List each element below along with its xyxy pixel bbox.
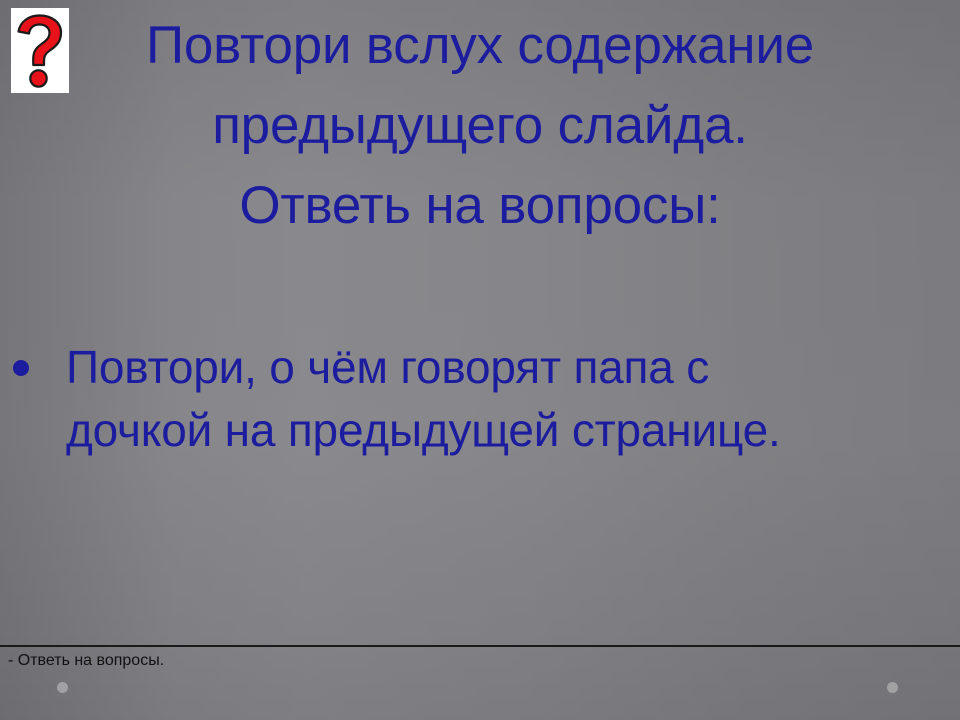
footer-divider xyxy=(0,645,960,647)
slide-canvas: Повтори вслух содержание предыдущего сла… xyxy=(0,0,960,720)
bullet-text: Повтори, о чём говорят папа с дочкой на … xyxy=(66,336,950,462)
title-line-3: Ответь на вопросы: xyxy=(0,166,960,246)
decor-dot-right xyxy=(887,682,898,693)
title-line-2: предыдущего слайда. xyxy=(0,86,960,166)
bullet-text-line-1: Повтори, о чём говорят папа с xyxy=(66,336,950,399)
bullet-marker-icon xyxy=(13,360,29,376)
bullet-text-line-2: дочкой на предыдущей странице. xyxy=(66,399,950,462)
title-line-1: Повтори вслух содержание xyxy=(0,6,960,86)
footer-note: - Ответь на вопросы. xyxy=(8,651,164,671)
slide-body: Повтори, о чём говорят папа с дочкой на … xyxy=(0,336,960,462)
bullet-item: Повтори, о чём говорят папа с дочкой на … xyxy=(0,336,960,462)
decor-dot-left xyxy=(57,682,68,693)
slide-title: Повтори вслух содержание предыдущего сла… xyxy=(0,6,960,246)
